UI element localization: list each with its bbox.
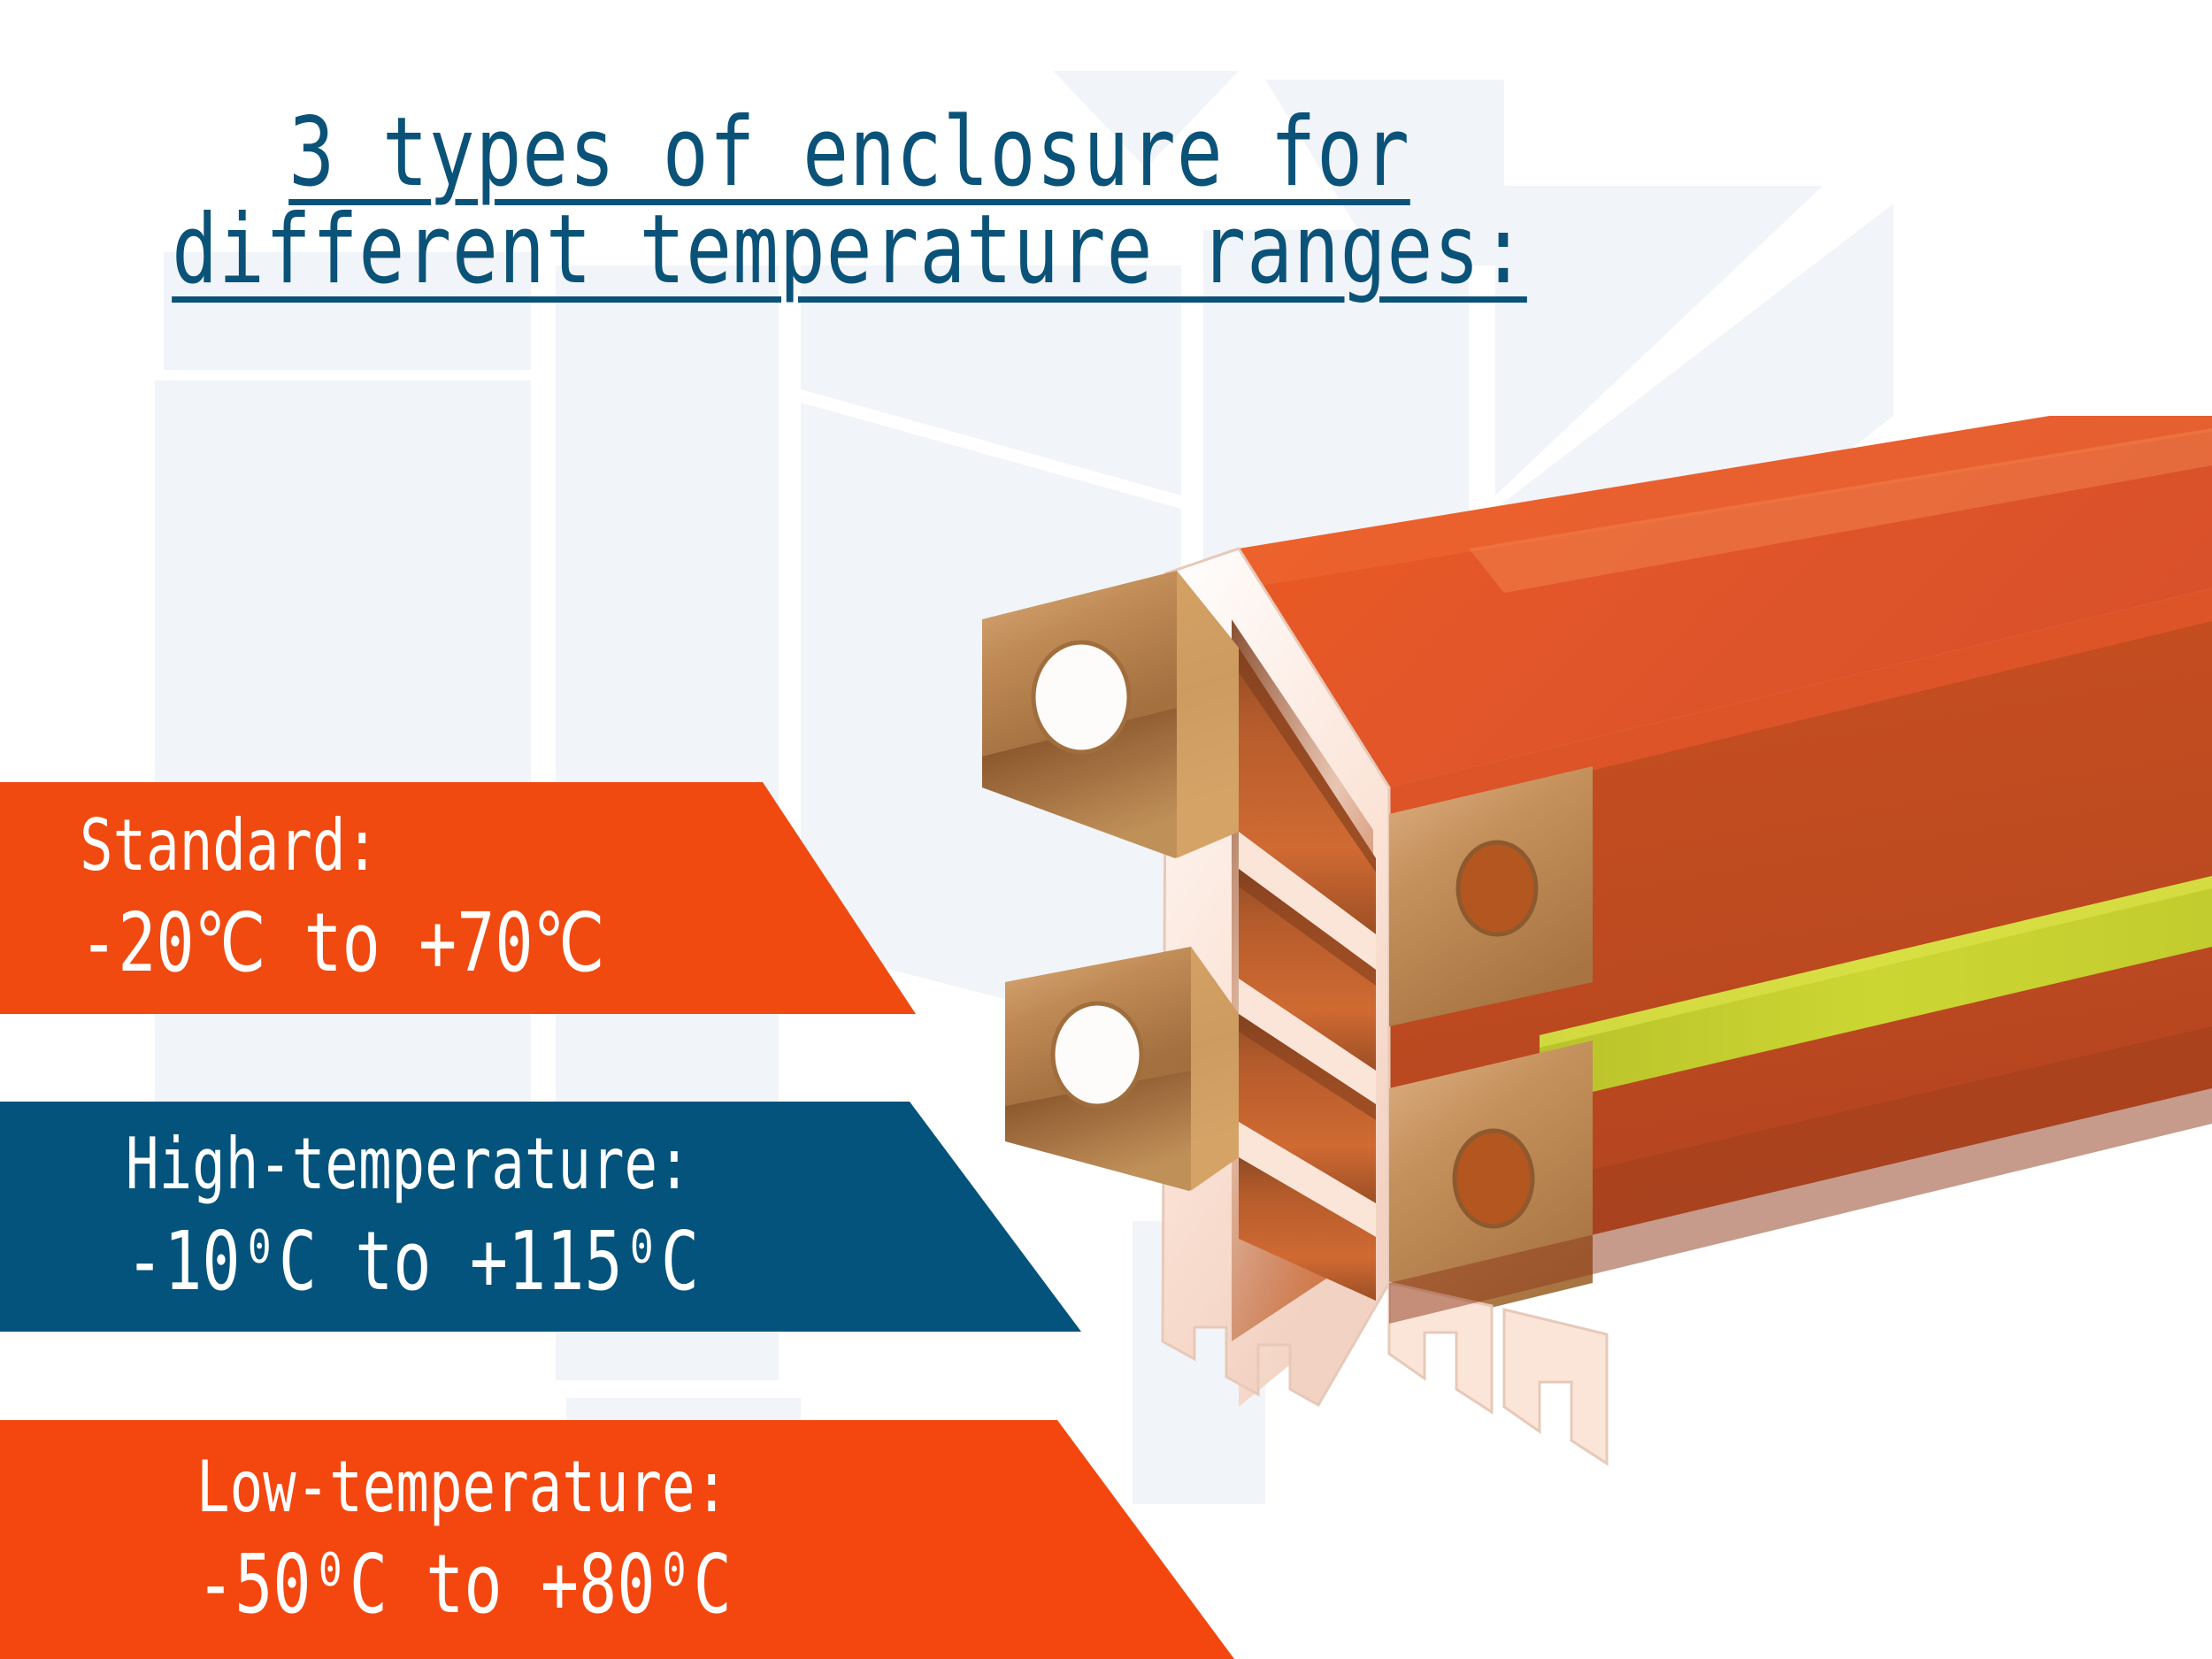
busbar-trunking-product-image xyxy=(973,416,2212,1566)
banner-standard-range: -20℃ to +70℃ xyxy=(80,896,732,991)
copper-tab-lower xyxy=(1389,1041,1593,1333)
page-title-line-2: different temperature ranges: xyxy=(170,202,1529,299)
banner-high-label: High-temperature: xyxy=(126,1124,871,1206)
slide-root: 3 types of enclosure for different tempe… xyxy=(0,0,2212,1659)
copper-lug-lower xyxy=(1005,947,1239,1191)
temperature-banner-high: High-temperature: -10⁰C to +115⁰C xyxy=(0,1102,1081,1332)
page-title-line-1: 3 types of enclosure for xyxy=(170,104,1529,202)
temperature-banner-low: Low-temperature: -50⁰C to +80⁰C xyxy=(0,1420,1234,1659)
temperature-banner-standard: Standard: -20℃ to +70℃ xyxy=(0,782,916,1014)
banner-low-range: -50⁰C to +80⁰C xyxy=(196,1538,1006,1632)
copper-lug-upper xyxy=(982,571,1239,858)
banner-low-label: Low-temperature: xyxy=(196,1447,1006,1529)
banner-standard-label: Standard: xyxy=(80,805,732,887)
banner-high-range: -10⁰C to +115⁰C xyxy=(126,1215,871,1310)
copper-tab-middle xyxy=(1389,766,1593,1026)
page-title: 3 types of enclosure for different tempe… xyxy=(0,104,1699,299)
insulation-clips xyxy=(1389,1283,1607,1463)
